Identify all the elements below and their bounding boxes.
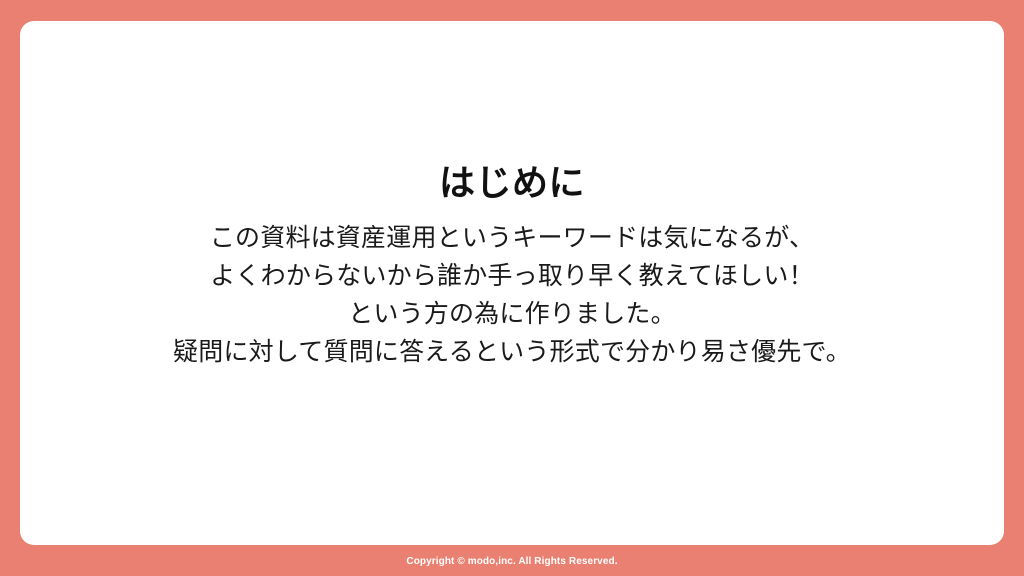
slide-footer: Copyright © modo,inc. All Rights Reserve… (0, 548, 1024, 576)
body-line-2: よくわからないから誰か手っ取り早く教えてほしい！ (20, 257, 1004, 295)
slide-body-text: この資料は資産運用というキーワードは気になるが、 よくわからないから誰か手っ取り… (20, 219, 1004, 371)
presentation-slide: はじめに この資料は資産運用というキーワードは気になるが、 よくわからないから誰… (0, 0, 1024, 576)
body-line-3: という方の為に作りました。 (20, 295, 1004, 333)
body-line-4: 疑問に対して質問に答えるという形式で分かり易さ優先で。 (20, 333, 1004, 371)
copyright-text: Copyright © modo,inc. All Rights Reserve… (406, 557, 617, 567)
body-line-1: この資料は資産運用というキーワードは気になるが、 (20, 219, 1004, 257)
page-title: はじめに (20, 161, 1004, 204)
slide-content-card: はじめに この資料は資産運用というキーワードは気になるが、 よくわからないから誰… (20, 21, 1004, 545)
